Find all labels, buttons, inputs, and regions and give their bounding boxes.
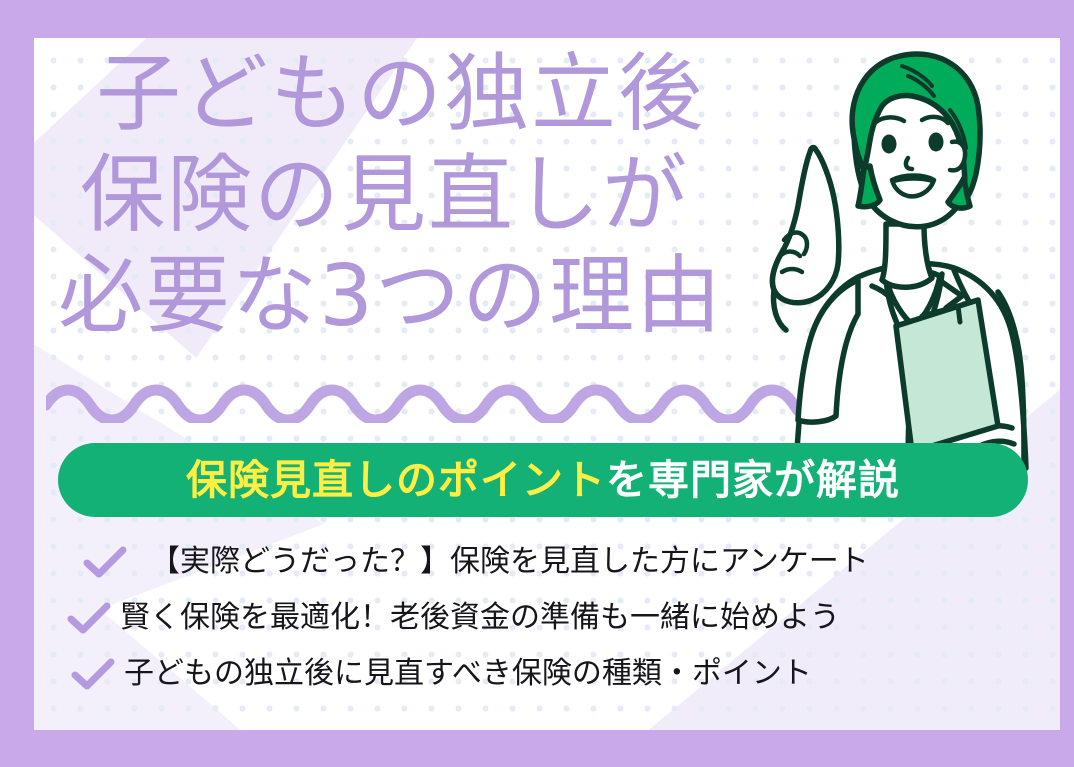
page-title: 子どもの独立後 保険の見直しが 必要な3つの理由 [58, 44, 818, 347]
title-line-2: 保険の見直しが [58, 145, 818, 246]
list-item-label: 賢く保険を最適化！老後資金の準備も一緒に始めよう [120, 601, 840, 635]
banner-highlight-pill[interactable]: 保険見直しのポイントを専門家が解説 [58, 443, 1028, 517]
title-line-1: 子どもの独立後 [58, 44, 818, 145]
list-item-label: 子どもの独立後に見直すべき保険の種類・ポイント [124, 657, 812, 691]
banner-rest-text: を専門家が解説 [606, 456, 900, 504]
banner-highlight-text: 保険見直しのポイント [186, 456, 606, 504]
check-icon [82, 545, 128, 579]
promo-banner: 子どもの独立後 保険の見直しが 必要な3つの理由 [0, 0, 1074, 767]
banner-canvas: 子どもの独立後 保険の見直しが 必要な3つの理由 [34, 38, 1060, 730]
illustration-woman-pointing [736, 38, 1060, 478]
list-item: 子どもの独立後に見直すべき保険の種類・ポイント [70, 646, 1020, 702]
feature-bullet-list: 【実際どうだった？】保険を見直した方にアンケート 賢く保険を最適化！老後資金の準… [60, 534, 1020, 702]
banner-text: 保険見直しのポイントを専門家が解説 [186, 460, 900, 501]
check-icon [70, 657, 116, 691]
list-item: 賢く保険を最適化！老後資金の準備も一緒に始めよう [66, 590, 1020, 646]
list-item-label: 【実際どうだった？】保険を見直した方にアンケート [150, 545, 869, 579]
list-item: 【実際どうだった？】保険を見直した方にアンケート [82, 534, 1020, 590]
check-icon [66, 601, 112, 635]
title-line-3: 必要な3つの理由 [58, 246, 818, 347]
